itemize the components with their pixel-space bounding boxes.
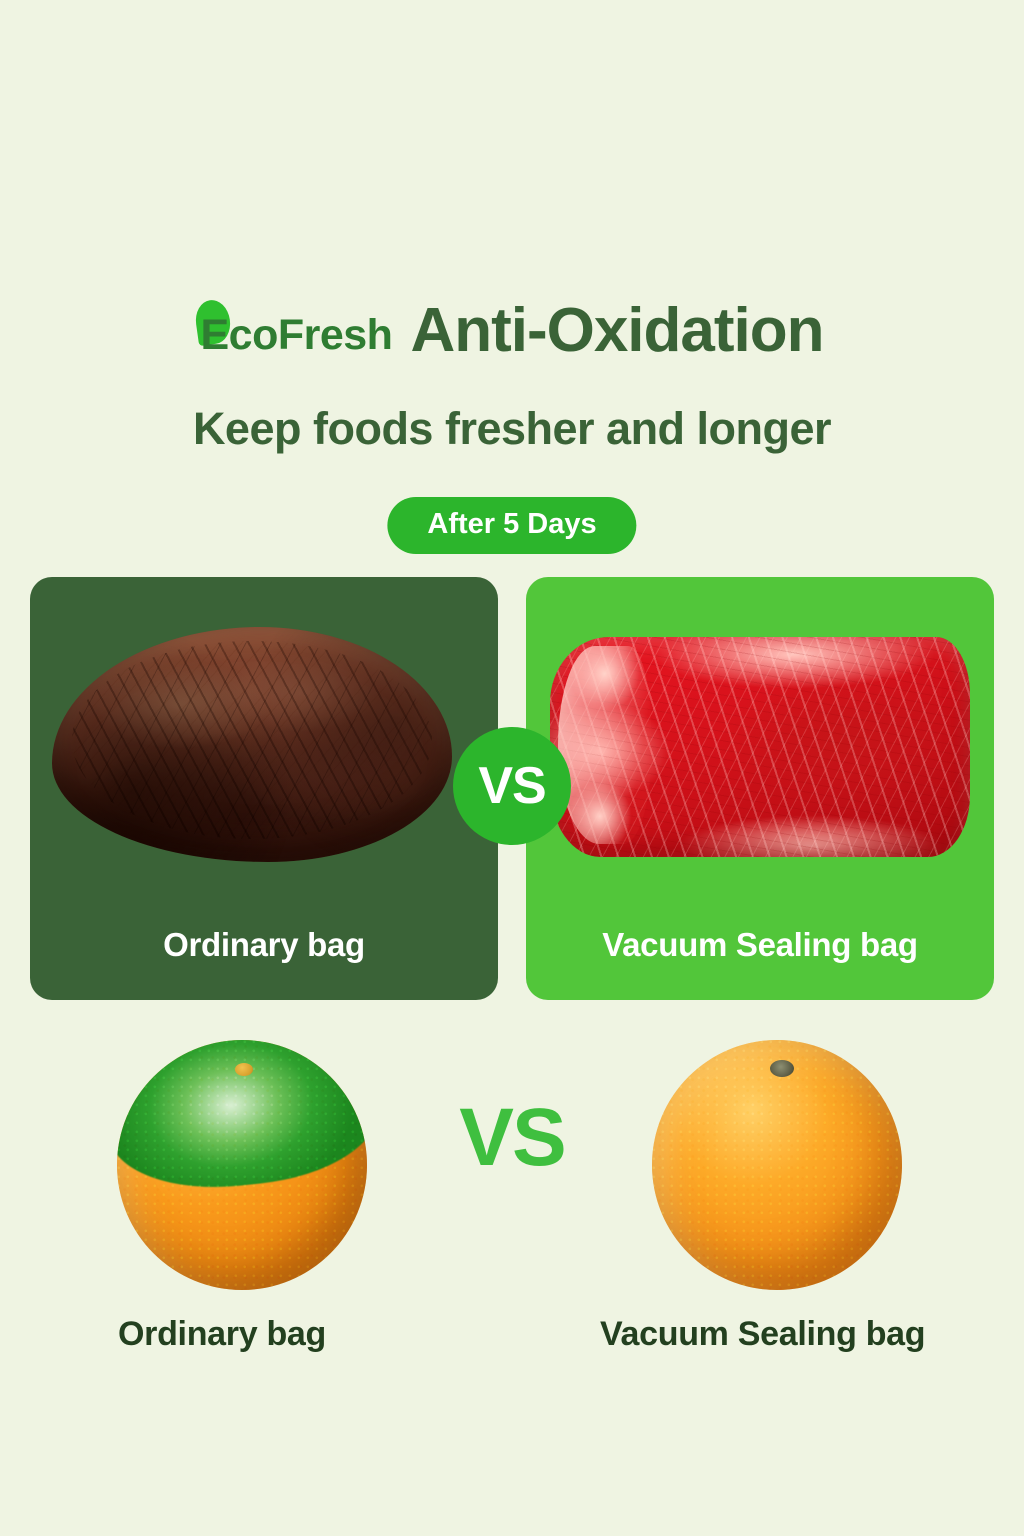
vs-badge-meat: VS (453, 727, 571, 845)
vs-label-fruit: VS (459, 1097, 564, 1179)
panel-ordinary-bag-meat: Ordinary bag (30, 577, 498, 1000)
panel-vacuum-bag-meat: Vacuum Sealing bag (526, 577, 994, 1000)
poster-root: EcoFresh Anti-Oxidation Keep foods fresh… (0, 0, 1024, 1536)
peel-texture (117, 1040, 367, 1290)
panel-label-ordinary: Ordinary bag (30, 926, 498, 964)
orange-stem (770, 1060, 794, 1077)
status-badge: After 5 Days (387, 497, 636, 554)
panel-label-vacuum: Vacuum Sealing bag (526, 926, 994, 964)
brand-name: EcoFresh (200, 311, 392, 359)
fresh-orange-image (652, 1040, 902, 1290)
orange-stem (235, 1063, 253, 1076)
brand-logo: EcoFresh (200, 300, 392, 357)
peel-texture (652, 1040, 902, 1290)
header-row: EcoFresh Anti-Oxidation (0, 300, 1024, 362)
fresh-steak-image (550, 637, 970, 857)
spoiled-orange-image (117, 1040, 367, 1290)
caption-vacuum-bag: Vacuum Sealing bag (600, 1315, 925, 1354)
caption-ordinary-bag: Ordinary bag (118, 1315, 326, 1354)
page-subtitle: Keep foods fresher and longer (0, 403, 1024, 455)
page-title: Anti-Oxidation (410, 300, 823, 362)
oxidized-meat-image (52, 627, 452, 862)
